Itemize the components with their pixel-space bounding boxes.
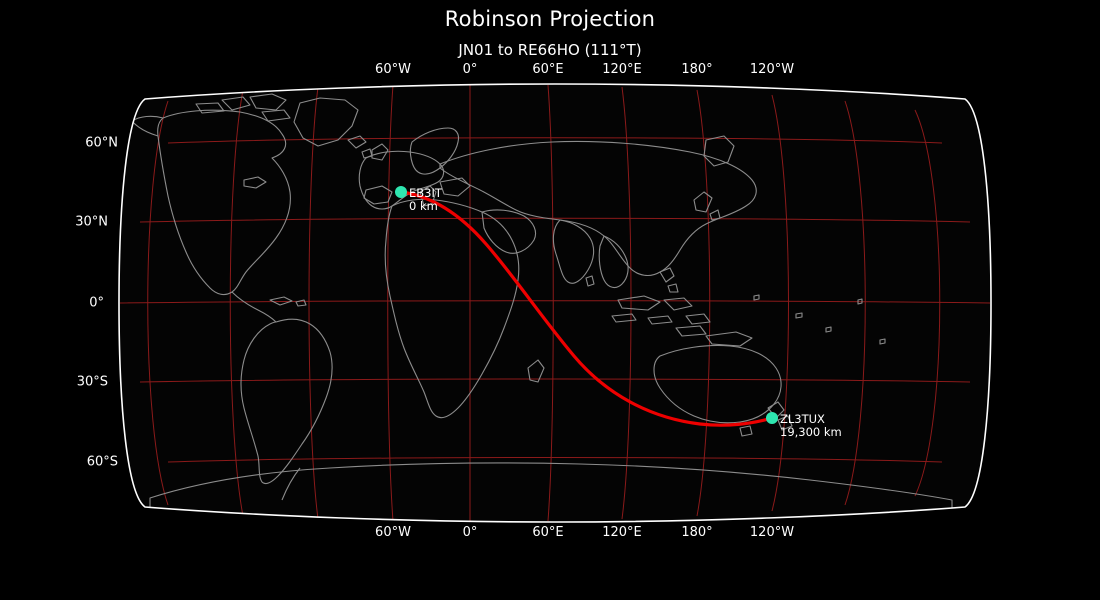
endpoint-distance-start: 0 km <box>409 200 442 213</box>
endpoint-callsign-start: EB3IT <box>409 186 442 200</box>
map-figure: Robinson Projection JN01 to RE66HO (111°… <box>0 0 1100 600</box>
lon-label-top-1: 0° <box>463 62 478 77</box>
endpoint-marker-end[interactable] <box>766 412 778 424</box>
lat-label-0: 60°N <box>18 136 118 151</box>
endpoint-distance-end: 19,300 km <box>780 426 842 439</box>
lon-label-top-2: 60°E <box>532 62 563 77</box>
lon-label-bottom-5: 120°W <box>750 525 794 540</box>
lon-label-top-5: 120°W <box>750 62 794 77</box>
lat-label-3: 30°S <box>8 375 108 390</box>
lat-label-1: 30°N <box>8 215 108 230</box>
endpoint-marker-start[interactable] <box>395 186 407 198</box>
lat-label-2: 0° <box>4 296 104 311</box>
lon-label-bottom-4: 180° <box>681 525 712 540</box>
lon-label-top-0: 60°W <box>375 62 411 77</box>
endpoint-callsign-end: ZL3TUX <box>780 412 825 426</box>
endpoint-label-start: EB3IT 0 km <box>409 187 442 213</box>
lon-label-top-3: 120°E <box>602 62 642 77</box>
lon-label-bottom-0: 60°W <box>375 525 411 540</box>
lon-label-top-4: 180° <box>681 62 712 77</box>
lon-label-bottom-3: 120°E <box>602 525 642 540</box>
lon-label-bottom-1: 0° <box>463 525 478 540</box>
lat-label-4: 60°S <box>18 455 118 470</box>
lon-label-bottom-2: 60°E <box>532 525 563 540</box>
endpoint-label-end: ZL3TUX 19,300 km <box>780 413 842 439</box>
robinson-projection-map <box>0 0 1100 600</box>
